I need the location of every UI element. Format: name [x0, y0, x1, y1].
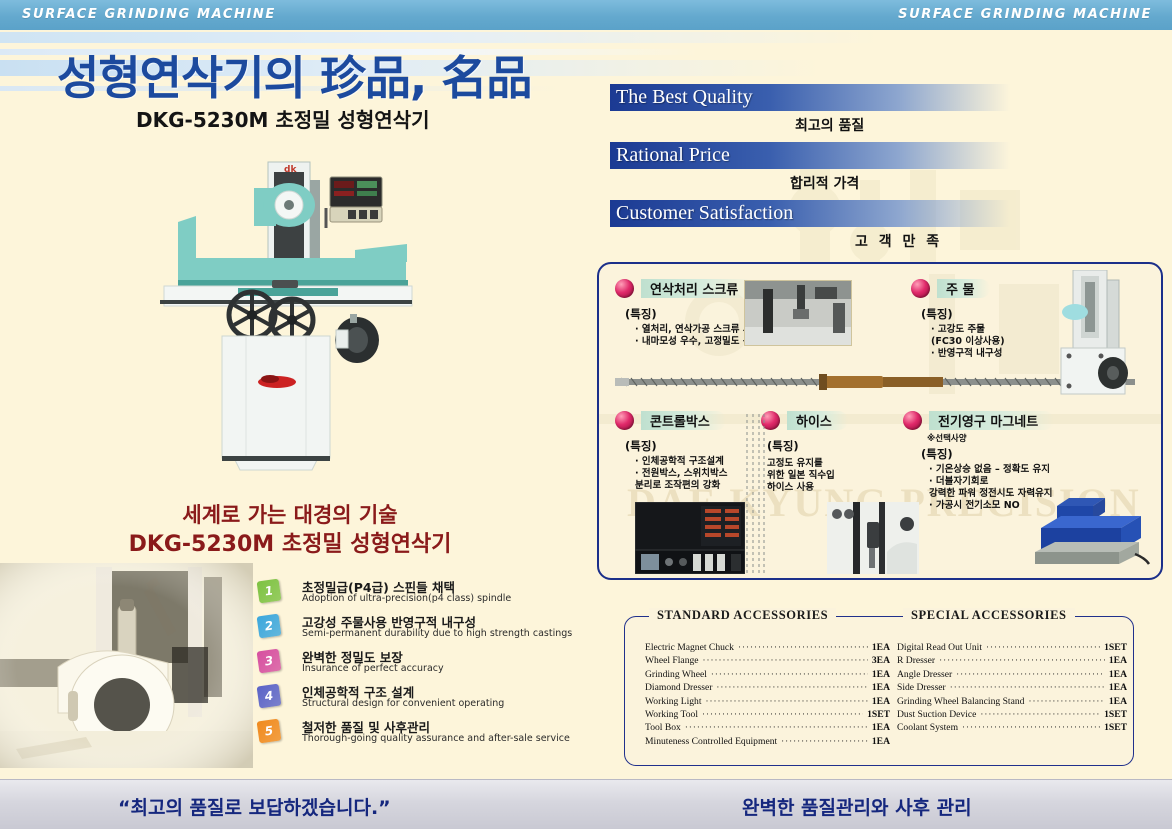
banner-rational-price: Rational Price [610, 142, 1010, 169]
component-feature-panel: DAE KYUNG PRECISION 연삭처리 스크류 (특징) · 열처리,… [597, 262, 1163, 580]
accessory-quantity: 1SET [1104, 641, 1127, 654]
banner-label-ko: 합리적 가격 [610, 173, 1010, 193]
special-accessories-title: SPECIAL ACCESSORIES [903, 608, 1075, 623]
table-row: Electric Magnet Chuck···················… [645, 641, 890, 654]
accessory-name: Minuteness Controlled Equipment [645, 735, 777, 748]
header-title-right: SURFACE GRINDING MACHINE [898, 7, 1152, 22]
table-row: Grinding Wheel Balancing Stand··········… [897, 695, 1127, 708]
table-row: Coolant System··························… [897, 721, 1127, 734]
feature-title-label: 콘트롤박스 [641, 411, 726, 430]
feature-label-en: Insurance of perfect accuracy [302, 663, 444, 674]
accessory-quantity: 1EA [1109, 668, 1127, 681]
accessory-quantity: 1EA [872, 641, 890, 654]
page-headline: 성형연삭기의 珍品, 名品 [57, 42, 531, 108]
table-row: Grinding Wheel··························… [645, 668, 890, 681]
leader-dots: ········································… [950, 681, 1105, 694]
table-row: Minuteness Controlled Equipment·········… [645, 735, 890, 748]
bullet-ball-icon [615, 279, 634, 298]
feature-char-label: (특징) [625, 306, 657, 322]
leader-dots: ········································… [956, 668, 1105, 681]
hss-tool-photo [827, 502, 919, 574]
leader-dots: ········································… [716, 681, 867, 694]
footer-slogan-left: “최고의 품질로 보답하겠습니다.” [118, 793, 391, 820]
grinding-head-photo [0, 563, 253, 768]
feature-char-label: (특징) [921, 446, 953, 462]
accessory-name: Working Tool [645, 708, 698, 721]
feature-title-label: 전기영구 마그네트 [929, 411, 1054, 430]
feature-title-label: 주 물 [937, 279, 990, 298]
table-row: Angle Dresser···························… [897, 668, 1127, 681]
leader-dots: ········································… [939, 654, 1105, 667]
feature-number-badge: 3 [257, 649, 282, 674]
accessory-name: Wheel Flange [645, 654, 699, 667]
accessory-quantity: 1EA [1109, 695, 1127, 708]
bullet-ball-icon [911, 279, 930, 298]
feature-bullets: 고정도 유지를 위한 일본 직수입 하이스 사용 [767, 458, 835, 494]
feature-label-en: Structural design for convenient operati… [302, 698, 504, 709]
feature-label-en: Adoption of ultra-precision(p4 class) sp… [302, 593, 511, 604]
feature-block-magnet-title: 전기영구 마그네트 [903, 410, 1054, 430]
accessory-quantity: 1SET [1104, 721, 1127, 734]
leader-dots: ········································… [781, 735, 868, 748]
leader-dots: ········································… [703, 654, 868, 667]
feature-title-label: 연삭처리 스크류 [641, 279, 754, 298]
list-item: 5 철저한 품질 및 사후관리 Thorough-going quality a… [258, 718, 578, 753]
feature-number-badge: 5 [257, 719, 282, 744]
magnet-chuck-photo [1031, 494, 1151, 570]
standard-accessories-list: Electric Magnet Chuck···················… [645, 641, 890, 748]
feature-block-hss-title: 하이스 [761, 410, 848, 430]
accessory-quantity: 1SET [867, 708, 890, 721]
accessory-name: Grinding Wheel [645, 668, 707, 681]
tagline-line-1: 세계로 가는 대경의 기술 [0, 500, 580, 530]
accessory-name: Working Light [645, 695, 702, 708]
banner-best-quality: The Best Quality [610, 84, 1010, 111]
guide-rod-graphic [743, 414, 767, 574]
feature-title-label: 하이스 [787, 411, 848, 430]
machine-illustration: dk [150, 150, 480, 480]
feature-bullets: · 인체공학적 구조설계 · 전원박스, 스위치박스 분리로 조작편의 강화 [635, 456, 728, 492]
accessory-quantity: 1EA [872, 668, 890, 681]
leader-dots: ········································… [702, 708, 863, 721]
accessory-name: Diamond Dresser [645, 681, 712, 694]
accessory-quantity: 1EA [1109, 654, 1127, 667]
feature-bullets: · 열처리, 연삭가공 스크류 사용 · 내마모성 우수, 고정밀도 구현 [635, 324, 760, 348]
column-photo [1055, 270, 1141, 400]
accessory-name: Grinding Wheel Balancing Stand [897, 695, 1024, 708]
leader-dots: ········································… [706, 695, 868, 708]
accessory-name: Dust Suction Device [897, 708, 976, 721]
leader-dots: ········································… [738, 641, 868, 654]
control-box-photo [635, 502, 745, 574]
table-row: Diamond Dresser·························… [645, 681, 890, 694]
accessory-quantity: 1EA [872, 681, 890, 694]
feature-number-badge: 4 [257, 684, 282, 709]
feature-option-note: ※선택사양 [927, 432, 967, 444]
svg-text:dk: dk [284, 165, 297, 175]
banner-label-ko: 고 객 만 족 [610, 231, 1010, 251]
leader-dots: ········································… [711, 668, 868, 681]
quality-banner-group: The Best Quality 최고의 품질 Rational Price 합… [610, 84, 1010, 258]
accessories-box: STANDARD ACCESSORIES SPECIAL ACCESSORIES… [624, 616, 1134, 766]
feature-char-label: (특징) [921, 306, 953, 322]
banner-label-en: Rational Price [610, 144, 730, 167]
list-item: 2 고강성 주물사용 반영구적 내구성 Semi-permanent durab… [258, 613, 578, 648]
accessory-quantity: 1EA [1109, 681, 1127, 694]
feature-bullets: · 고강도 주물 (FC30 이상사용) · 반영구적 내구성 [931, 324, 1005, 360]
table-row: Digital Read Out Unit···················… [897, 641, 1127, 654]
leader-dots: ········································… [980, 708, 1100, 721]
page-footer: “최고의 품질로 보답하겠습니다.” 완벽한 품질관리와 사후 관리 [0, 779, 1172, 829]
accessory-name: Electric Magnet Chuck [645, 641, 734, 654]
accessory-name: Side Dresser [897, 681, 946, 694]
accessory-quantity: 1EA [872, 721, 890, 734]
accessory-quantity: 1EA [872, 695, 890, 708]
list-item: 1 초정밀급(P4급) 스핀들 채택 Adoption of ultra-pre… [258, 578, 578, 613]
list-item: 3 완벽한 정밀도 보장 Insurance of perfect accura… [258, 648, 578, 683]
feature-char-label: (특징) [767, 438, 799, 454]
bullet-ball-icon [903, 411, 922, 430]
standard-accessories-title: STANDARD ACCESSORIES [649, 608, 836, 623]
accessory-name: Angle Dresser [897, 668, 952, 681]
accessory-name: Tool Box [645, 721, 681, 734]
top-header-bar: SURFACE GRINDING MACHINE SURFACE GRINDIN… [0, 0, 1172, 30]
banner-label-en: Customer Satisfaction [610, 202, 793, 225]
banner-label-en: The Best Quality [610, 86, 753, 109]
accessory-name: Digital Read Out Unit [897, 641, 982, 654]
table-row: Tool Box································… [645, 721, 890, 734]
feature-list: 1 초정밀급(P4급) 스핀들 채택 Adoption of ultra-pre… [258, 578, 578, 753]
leader-dots: ········································… [685, 721, 868, 734]
feature-number-badge: 2 [257, 614, 282, 639]
leader-dots: ········································… [986, 641, 1100, 654]
accessory-quantity: 1EA [872, 735, 890, 748]
screw-photo [744, 280, 852, 346]
leader-dots: ········································… [1028, 695, 1104, 708]
feature-block-controlbox-title: 콘트롤박스 [615, 410, 726, 430]
footer-slogan-right: 완벽한 품질관리와 사후 관리 [742, 793, 972, 820]
feature-label-en: Thorough-going quality assurance and aft… [302, 733, 570, 744]
accessory-name: R Dresser [897, 654, 935, 667]
tagline-line-2: DKG-5230M 초정밀 성형연삭기 [0, 530, 580, 560]
table-row: Side Dresser····························… [897, 681, 1127, 694]
special-accessories-list: Digital Read Out Unit···················… [897, 641, 1127, 735]
feature-number-badge: 1 [257, 579, 282, 604]
page-subheadline: DKG-5230M 초정밀 성형연삭기 [136, 104, 430, 133]
leader-dots: ········································… [962, 721, 1100, 734]
header-title-left: SURFACE GRINDING MACHINE [22, 7, 276, 22]
banner-label-ko: 최고의 품질 [610, 115, 1010, 135]
table-row: Working Tool····························… [645, 708, 890, 721]
table-row: Working Light···························… [645, 695, 890, 708]
table-row: Dust Suction Device·····················… [897, 708, 1127, 721]
machine-product-photo: dk [150, 150, 480, 480]
product-tagline: 세계로 가는 대경의 기술 DKG-5230M 초정밀 성형연삭기 [0, 500, 580, 560]
feature-block-screw-title: 연삭처리 스크류 [615, 278, 754, 298]
bullet-ball-icon [615, 411, 634, 430]
accessory-quantity: 1SET [1104, 708, 1127, 721]
accessory-name: Coolant System [897, 721, 958, 734]
feature-block-casting-title: 주 물 [911, 278, 990, 298]
list-item: 4 인체공학적 구조 설계 Structural design for conv… [258, 683, 578, 718]
grinding-head-illustration [0, 563, 253, 768]
feature-label-en: Semi-permanent durability due to high st… [302, 628, 572, 639]
accessory-quantity: 3EA [872, 654, 890, 667]
table-row: Wheel Flange····························… [645, 654, 890, 667]
banner-customer-satisfaction: Customer Satisfaction [610, 200, 1010, 227]
table-row: R Dresser·······························… [897, 654, 1127, 667]
brochure-page: SURFACE GRINDING MACHINE SURFACE GRINDIN… [0, 0, 1172, 829]
feature-char-label: (특징) [625, 438, 657, 454]
